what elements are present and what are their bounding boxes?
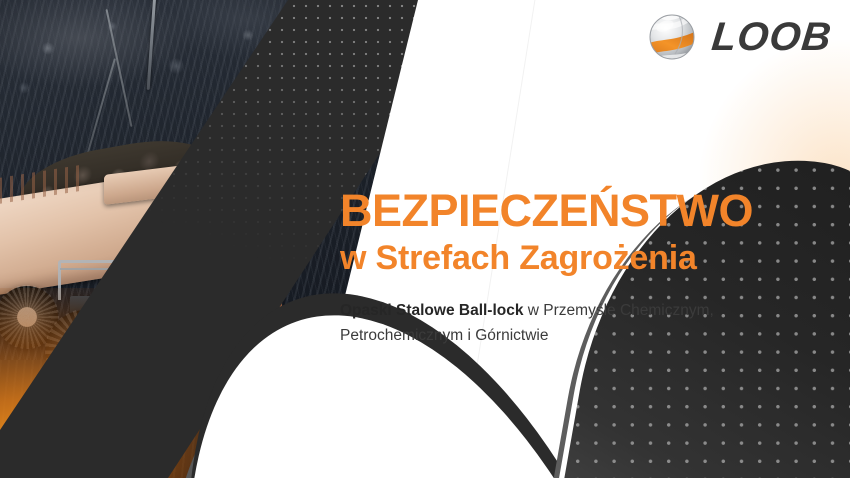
logo-wordmark: LOOB xyxy=(710,15,834,60)
description-text: Opaski Stalowe Ball-lock w Przemyśle Che… xyxy=(340,298,780,348)
sphere-globe-icon xyxy=(645,10,699,64)
title-block: BEZPIECZEŃSTWO w Strefach Zagrożenia Opa… xyxy=(340,188,810,348)
brand-logo[interactable]: LOOB xyxy=(645,10,832,64)
presentation-slide: LOOB BEZPIECZEŃSTWO w Strefach Zagrożeni… xyxy=(0,0,850,478)
page-title: BEZPIECZEŃSTWO xyxy=(340,188,810,233)
description-bold-lead: Opaski Stalowe Ball-lock xyxy=(340,302,523,319)
page-subtitle-heading: w Strefach Zagrożenia xyxy=(340,239,810,278)
